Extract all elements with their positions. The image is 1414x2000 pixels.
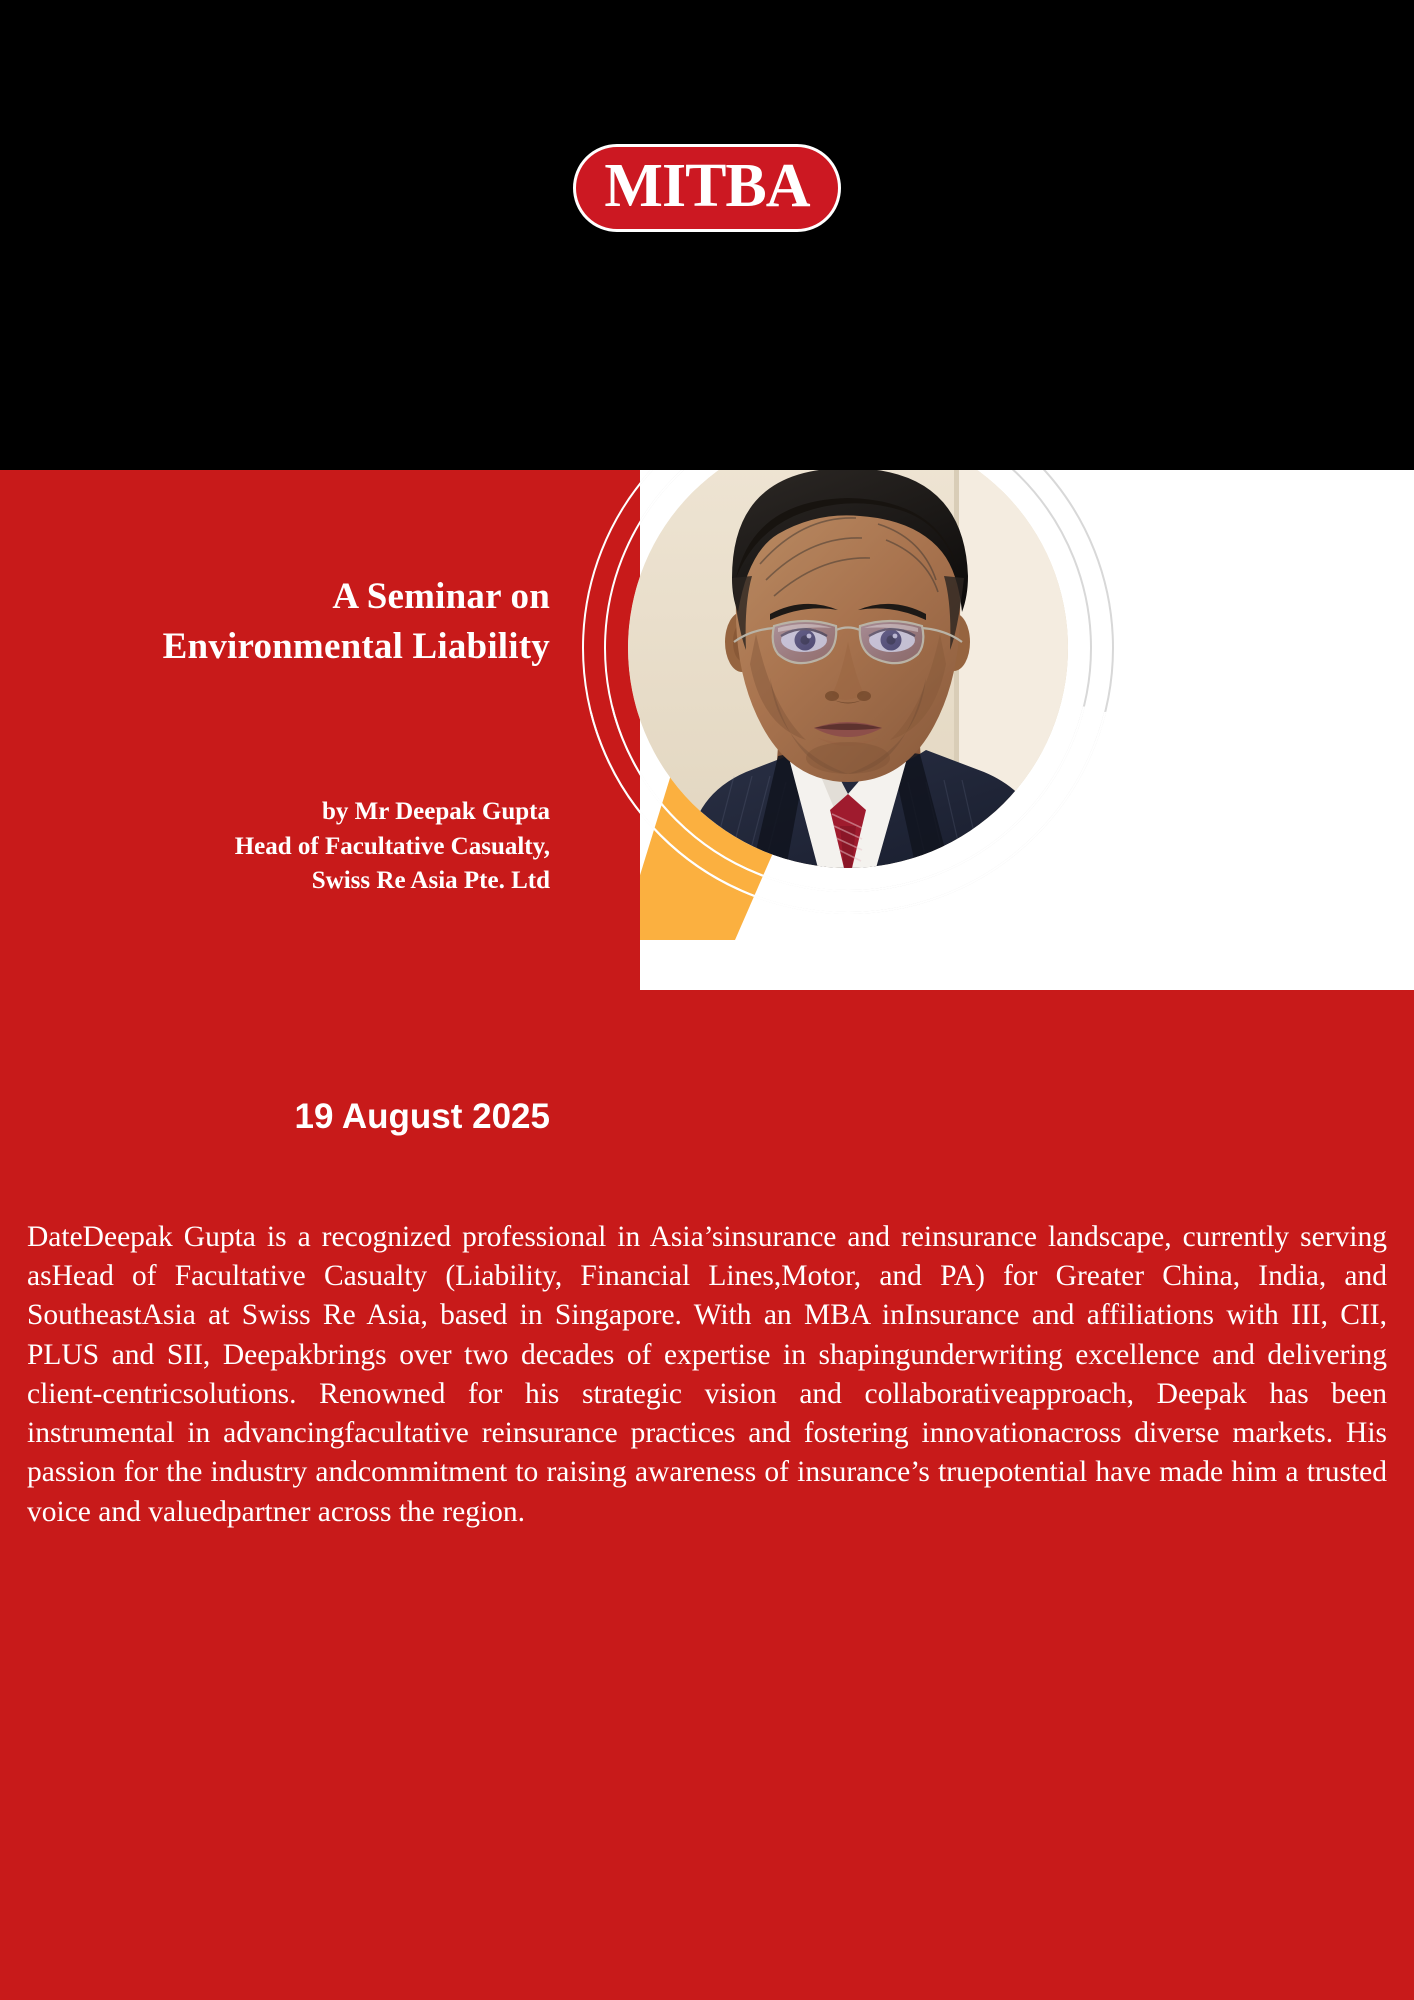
speaker-details: by Mr Deepak Gupta Head of Facultative C…: [60, 795, 550, 899]
seminar-poster: MITBA A Seminar on Environmental Liabili…: [0, 0, 1414, 2000]
page-title-line-2: Environmental Liability: [60, 622, 550, 672]
speaker-bio: DateDeepak Gupta is a recognized profess…: [27, 1218, 1387, 1532]
page-title-line-1: A Seminar on: [60, 572, 550, 622]
speaker-name: by Mr Deepak Gupta: [60, 795, 550, 830]
speaker-company: Swiss Re Asia Pte. Ltd: [60, 864, 550, 899]
top-black-band: [0, 0, 1414, 470]
speaker-role: Head of Facultative Casualty,: [60, 830, 550, 865]
page-title: A Seminar on Environmental Liability: [60, 572, 550, 671]
mitba-logo: MITBA: [573, 144, 841, 232]
speaker-portrait: [628, 428, 1068, 868]
mitba-logo-text: MITBA: [604, 155, 809, 221]
event-date: 19 August 2025: [60, 1096, 550, 1138]
